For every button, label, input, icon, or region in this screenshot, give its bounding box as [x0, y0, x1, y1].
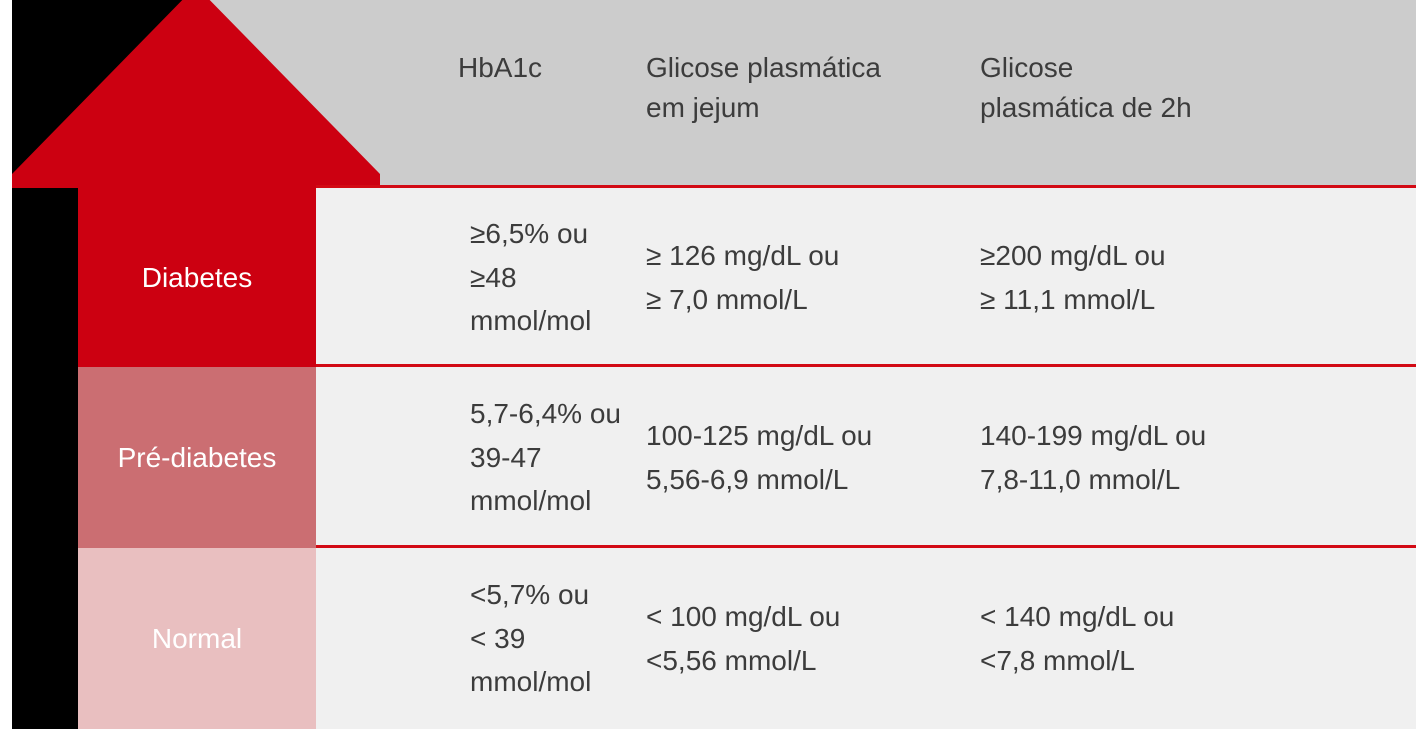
row-label-prediabetes: Pré-diabetes [78, 367, 316, 548]
table-row: Diabetes ≥6,5% ou ≥48 mmol/mol ≥ 126 mg/… [12, 188, 1416, 367]
cell-prediabetes-fasting-glucose: 100-125 mg/dL ou 5,56-6,9 mmol/L [646, 414, 980, 501]
diabetes-criteria-infographic: HbA1c Glicose plasmática em jejum Glicos… [0, 0, 1416, 729]
cell-normal-2h-glucose: < 140 mg/dL ou <7,8 mmol/L [980, 595, 1416, 682]
cell-normal-fasting-glucose: < 100 mg/dL ou <5,56 mmol/L [646, 595, 980, 682]
column-header-2h-glucose: Glicose plasmática de 2h [980, 48, 1416, 128]
column-header-hba1c: HbA1c [316, 48, 646, 88]
row-label-diabetes: Diabetes [78, 188, 316, 367]
table-row: Pré-diabetes 5,7-6,4% ou 39-47 mmol/mol … [12, 367, 1416, 548]
cell-diabetes-fasting-glucose: ≥ 126 mg/dL ou ≥ 7,0 mmol/L [646, 234, 980, 321]
table-header-row: HbA1c Glicose plasmática em jejum Glicos… [316, 0, 1416, 185]
table-row: Normal <5,7% ou < 39 mmol/mol < 100 mg/d… [12, 548, 1416, 729]
cell-prediabetes-hba1c: 5,7-6,4% ou 39-47 mmol/mol [316, 392, 646, 523]
row-cells-normal: <5,7% ou < 39 mmol/mol < 100 mg/dL ou <5… [316, 548, 1416, 729]
cell-normal-hba1c: <5,7% ou < 39 mmol/mol [316, 573, 646, 704]
row-label-normal: Normal [78, 548, 316, 729]
cell-prediabetes-2h-glucose: 140-199 mg/dL ou 7,8-11,0 mmol/L [980, 414, 1416, 501]
column-header-fasting-glucose: Glicose plasmática em jejum [646, 48, 980, 128]
row-cells-diabetes: ≥6,5% ou ≥48 mmol/mol ≥ 126 mg/dL ou ≥ 7… [316, 188, 1416, 367]
row-cells-prediabetes: 5,7-6,4% ou 39-47 mmol/mol 100-125 mg/dL… [316, 367, 1416, 548]
cell-diabetes-2h-glucose: ≥200 mg/dL ou ≥ 11,1 mmol/L [980, 234, 1416, 321]
cell-diabetes-hba1c: ≥6,5% ou ≥48 mmol/mol [316, 212, 646, 343]
